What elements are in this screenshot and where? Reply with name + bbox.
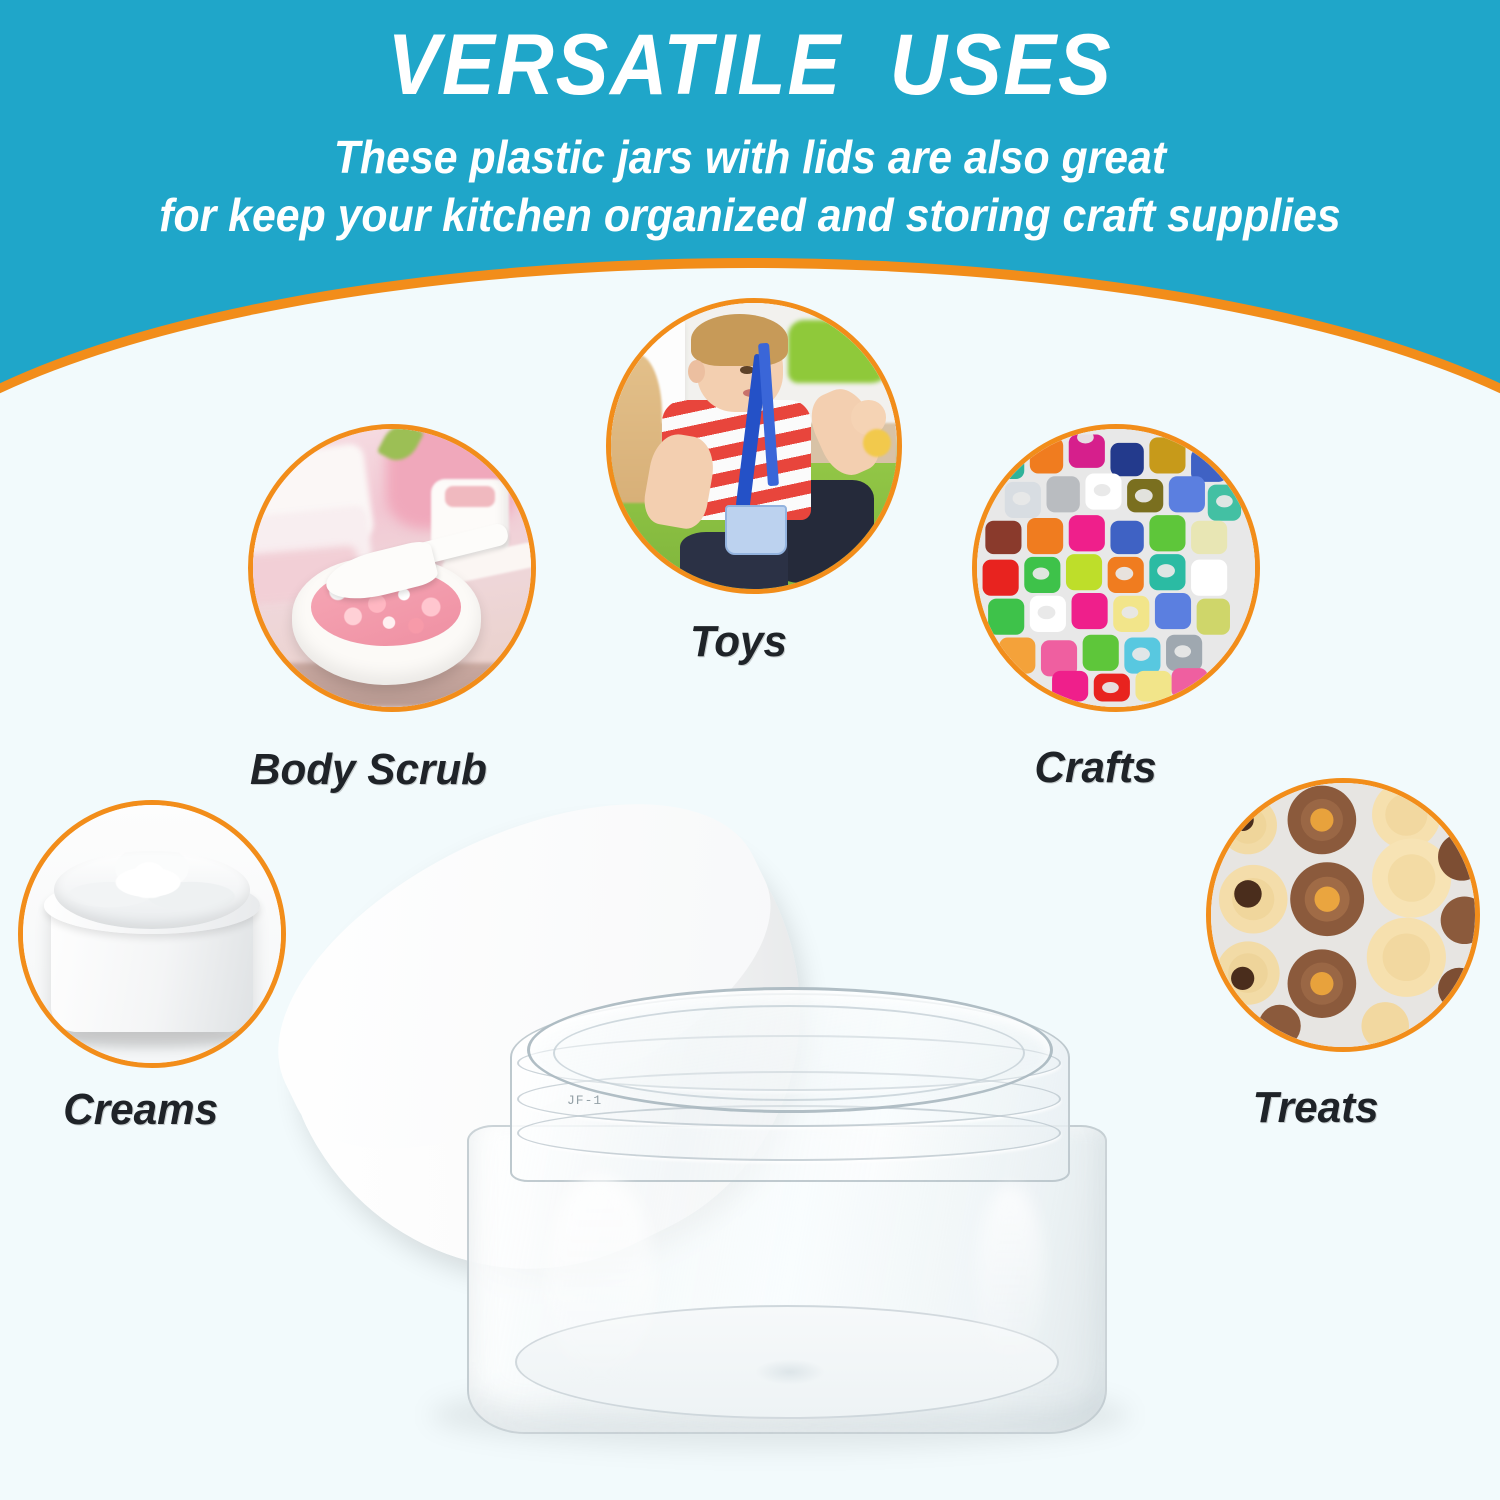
- creams-photo-circle[interactable]: [18, 800, 286, 1068]
- subtitle-line-2: for keep your kitchen organized and stor…: [53, 186, 1448, 244]
- infographic-canvas: VERSATILE USES These plastic jars with l…: [0, 0, 1500, 1500]
- crafts-photo-circle[interactable]: [972, 424, 1260, 712]
- jar-mold-code: JF-1: [567, 1093, 602, 1108]
- callout-crafts[interactable]: [972, 424, 1260, 712]
- bath-salts-image: [253, 429, 531, 707]
- treats-photo-circle[interactable]: [1206, 778, 1480, 1052]
- jar-thread-3: [517, 1105, 1061, 1161]
- callout-label-toys: Toys: [690, 618, 787, 666]
- callout-toys[interactable]: [606, 298, 902, 594]
- callout-body-scrub[interactable]: [248, 424, 536, 712]
- cookies-image: [1211, 783, 1475, 1047]
- callout-label-body-scrub: Body Scrub: [250, 746, 487, 794]
- jar-highlight-left: [545, 1175, 655, 1385]
- callout-label-creams: Creams: [63, 1086, 218, 1134]
- jar-base-mold-mark: [755, 1359, 825, 1385]
- subtitle-line-1: These plastic jars with lids are also gr…: [53, 128, 1448, 186]
- callout-treats[interactable]: [1206, 778, 1480, 1052]
- body-scrub-photo-circle[interactable]: [248, 424, 536, 712]
- callout-label-crafts: Crafts: [1035, 744, 1157, 792]
- toys-photo-circle[interactable]: [606, 298, 902, 594]
- jar-highlight-right: [975, 1185, 1045, 1375]
- jar-mouth-inner-rim: [553, 1005, 1025, 1101]
- page-subtitle: These plastic jars with lids are also gr…: [53, 128, 1448, 244]
- cream-jar-image: [23, 805, 281, 1063]
- callout-label-treats: Treats: [1253, 1084, 1379, 1132]
- callout-creams[interactable]: [18, 800, 286, 1068]
- perler-beads-image: [977, 429, 1255, 707]
- clear-plastic-jar: JF-1: [455, 975, 1115, 1430]
- page-title: VERSATILE USES: [60, 22, 1440, 108]
- child-slime-image: [611, 303, 897, 589]
